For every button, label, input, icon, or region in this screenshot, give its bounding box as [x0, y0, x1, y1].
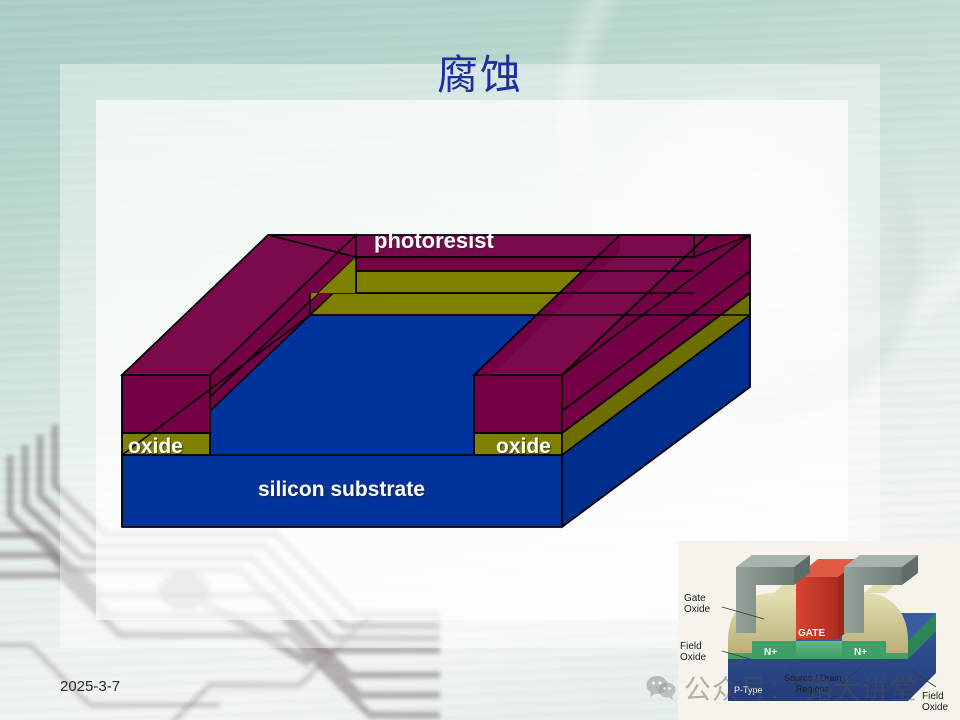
- inset-label-field-oxide-right-line2: Oxide: [922, 702, 949, 713]
- inset-label-gate-oxide-line1: Gate: [684, 593, 706, 604]
- page-title: 腐蚀: [0, 52, 960, 99]
- etching-3d-diagram: [110, 205, 770, 550]
- inset-label-source-drain-line1: Source / Drain: [784, 673, 842, 683]
- slide-date: 2025-3-7: [60, 678, 120, 695]
- inset-label-gate-oxide-line2: Oxide: [684, 604, 711, 615]
- inset-label-n-plus-right: N+: [854, 647, 867, 658]
- inset-label-n-plus-left: N+: [764, 647, 777, 658]
- inset-label-gate: GATE: [798, 628, 825, 639]
- slide-canvas: 腐蚀: [0, 0, 960, 720]
- mosfet-cross-section-image: Gate Oxide Field Oxide Field Oxide Sourc…: [678, 541, 960, 720]
- inset-label-field-oxide-left-line2: Oxide: [680, 652, 707, 663]
- inset-label-field-oxide-left-line1: Field: [680, 641, 702, 652]
- inset-label-field-oxide-right-line1: Field: [922, 691, 944, 702]
- inset-label-p-type: P-Type: [734, 685, 763, 695]
- inset-label-source-drain-line2: Regions: [796, 684, 830, 694]
